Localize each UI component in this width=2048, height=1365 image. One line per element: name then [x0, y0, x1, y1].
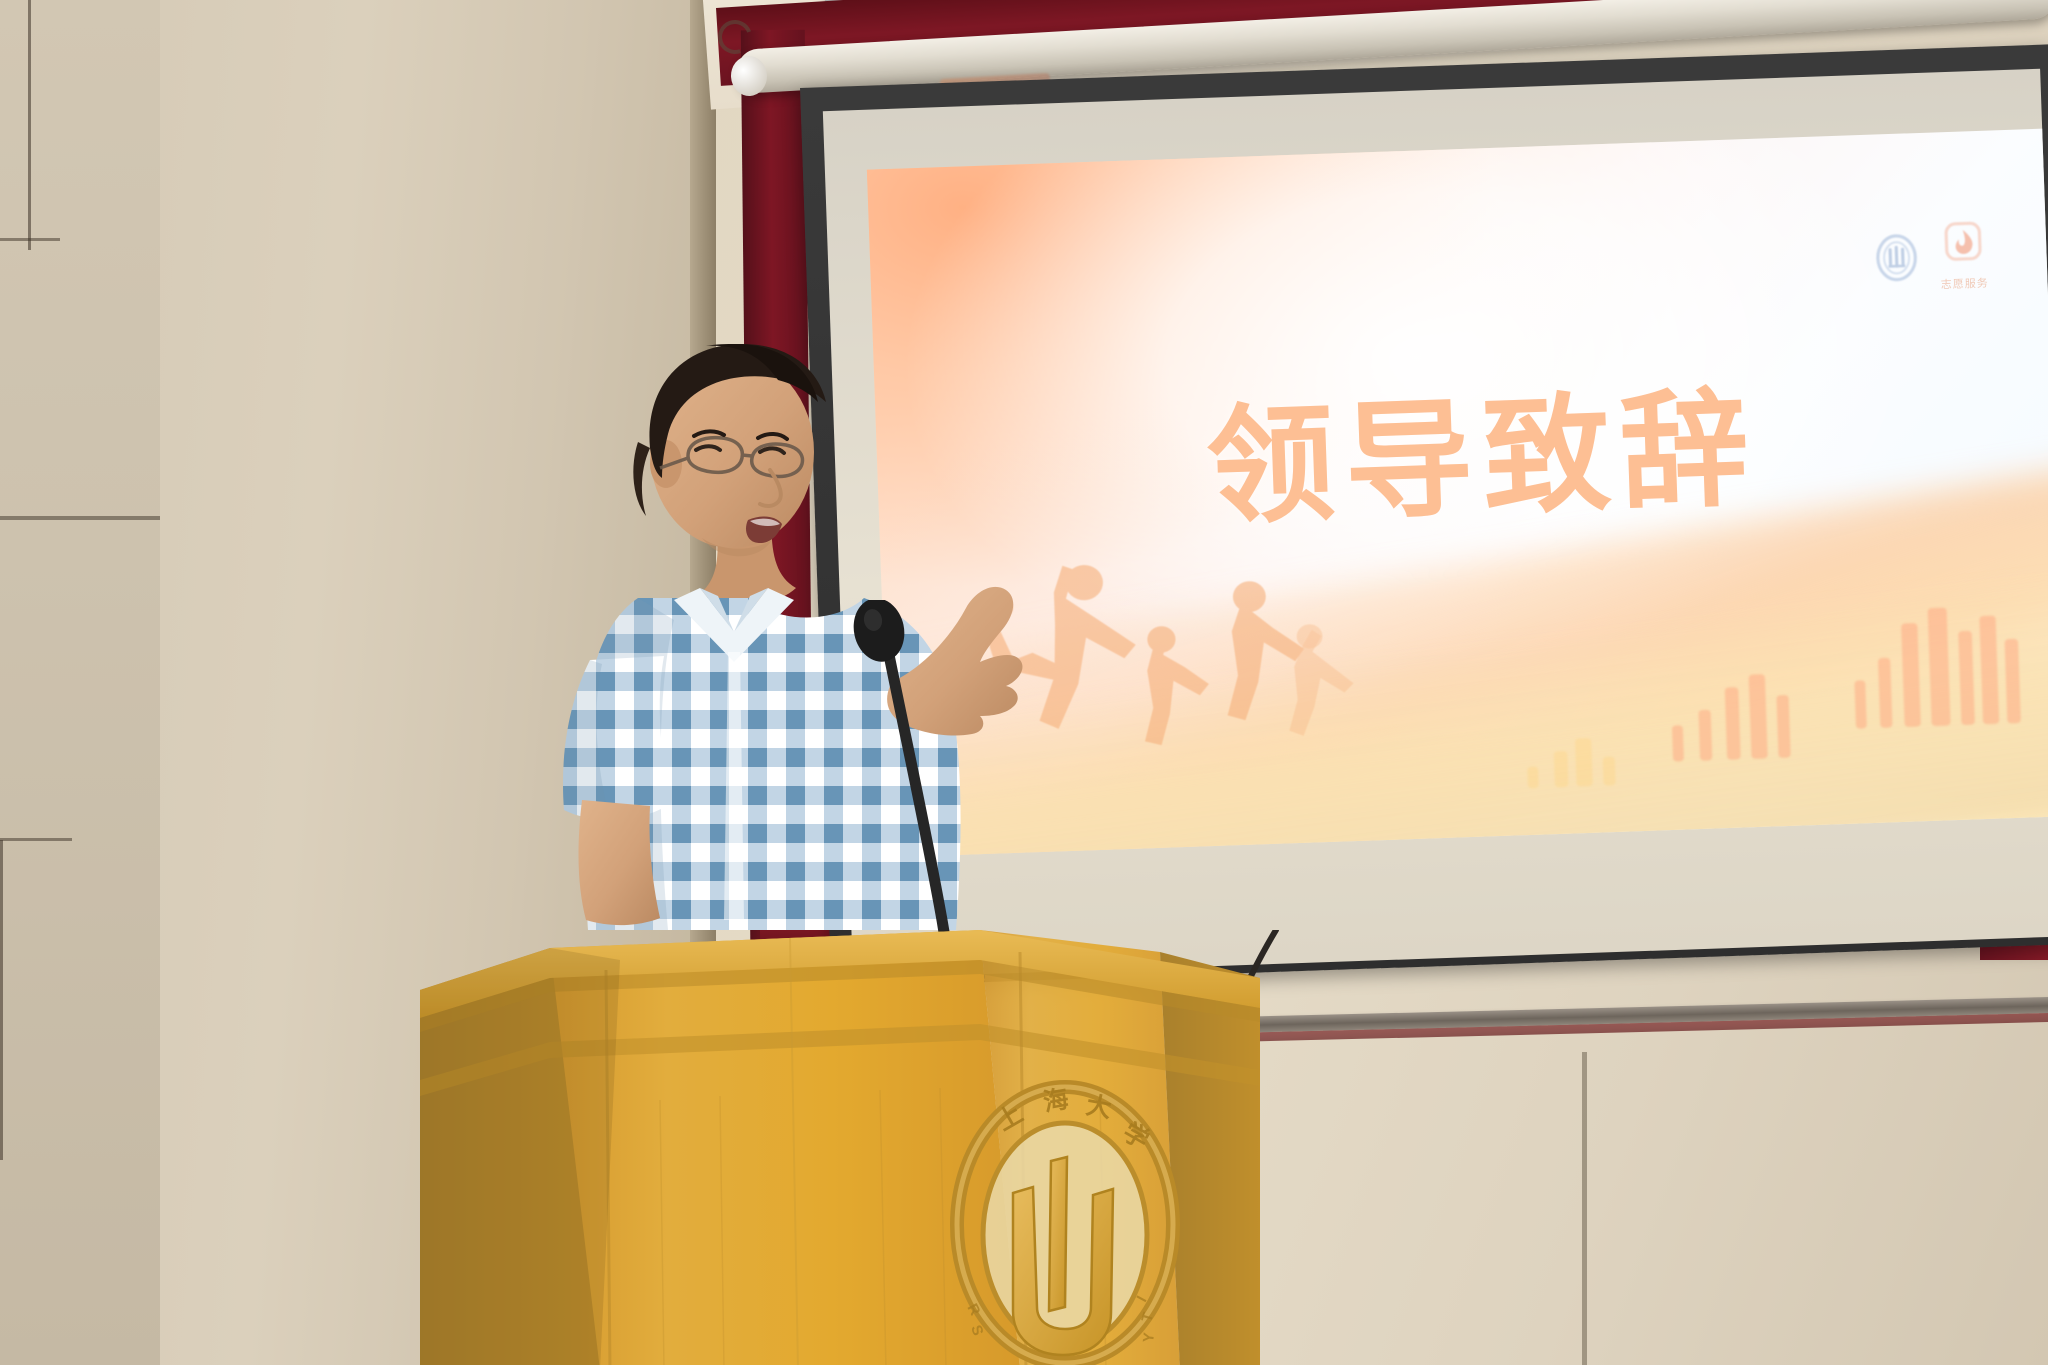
svg-text:S: S: [967, 1323, 986, 1338]
wall-seam-corner: [0, 238, 60, 241]
wall-seam-lower-h: [0, 838, 72, 841]
wall-seam-lower: [0, 840, 3, 1160]
wall-seam-horizontal: [0, 516, 170, 520]
svg-text:Y: Y: [1140, 1332, 1158, 1344]
shanghai-university-emblem: 上 海 大 学 R S I T Y: [945, 1075, 1185, 1365]
microphone-head: [848, 600, 910, 666]
circular-emblem-logo-icon: [1873, 232, 1921, 286]
svg-text:I: I: [1134, 1293, 1151, 1305]
left-wall-panel: [0, 0, 168, 1365]
slide-logo-group: 志愿服务: [1873, 220, 1989, 295]
slide-title: 领导致辞: [1203, 345, 1761, 549]
svg-text:大: 大: [1084, 1090, 1114, 1123]
wall-seam-short: [28, 0, 31, 250]
flame-logo-caption: 志愿服务: [1940, 275, 1989, 293]
skyline-bars-graphic: [1494, 597, 2041, 808]
flame-emblem-logo-icon: [1940, 220, 1988, 274]
lower-wall-seam: [1582, 1052, 1587, 1365]
photo-scene: 志愿服务 领导致辞: [0, 0, 2048, 1365]
svg-text:海: 海: [1041, 1084, 1071, 1117]
